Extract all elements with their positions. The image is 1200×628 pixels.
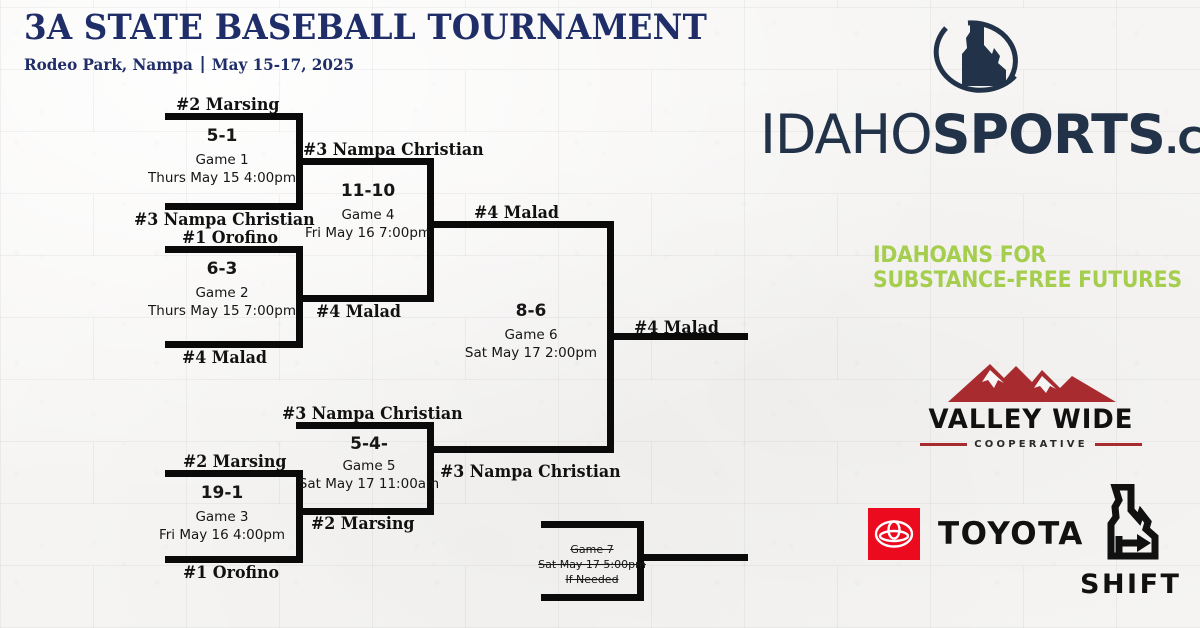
game-7-datetime: Sat May 17 5:00pm [538,558,646,573]
game-1-bottom-team: #3 Nampa Christian [134,210,315,229]
game-1-bottom-line [165,203,303,210]
game-3-label: Game 3 [159,508,285,526]
game-7-output-line [637,554,748,561]
game-4-datetime: Fri May 16 7:00pm [305,224,431,242]
game-2-bottom-line [165,341,303,348]
valley-wide-cooperative-logo[interactable]: VALLEY WIDE COOPERATIVE [920,358,1142,450]
game-1-top-line [165,113,303,120]
shift-logo[interactable]: SHIFT [1080,484,1180,600]
idahoans-wordmark: IDAHOANS FOR SUBSTANCE-FREE FUTURES [873,244,1182,294]
game-2-info: 6-3 Game 2 Thurs May 15 7:00pm [148,259,296,320]
idahoans-line-2: SUBSTANCE-FREE FUTURES [873,269,1182,294]
game-3-datetime: Fri May 16 4:00pm [159,526,285,544]
game-7-if-needed-label: If Needed [538,573,646,588]
game-6-bottom-line [427,446,614,453]
game-2-datetime: Thurs May 15 7:00pm [148,302,296,320]
game-5-info: 5-4- Game 5 Sat May 17 11:00am [299,434,439,493]
toyota-wordmark: TOYOTA [938,516,1084,552]
game-3-top-line [165,470,303,477]
valley-wide-rule-right [1095,443,1142,446]
game-4-label: Game 4 [305,206,431,224]
valley-wide-rule-left [920,443,967,446]
game-3-info: 19-1 Game 3 Fri May 16 4:00pm [159,483,285,544]
game-2-score: 6-3 [148,259,296,279]
idahosports-logo[interactable]: IDAHOSPORTS.COM [760,14,1192,162]
game-4-info: 11-10 Game 4 Fri May 16 7:00pm [305,181,431,242]
game-7-label: Game 7 [538,543,646,558]
game-4-top-team: #3 Nampa Christian [303,140,484,159]
idahosports-word-bold: SPORTS [932,103,1165,166]
game-7-top-line [541,521,644,528]
game-3-score: 19-1 [159,483,285,503]
idaho-arrow-icon [1089,484,1171,562]
idahoans-line-1: IDAHOANS FOR [873,244,1182,269]
game-5-bottom-team: #2 Marsing [311,514,414,533]
game-5-datetime: Sat May 17 11:00am [299,475,439,493]
game-6-bottom-team: #3 Nampa Christian [440,462,621,481]
game-6-top-team: #4 Malad [474,203,559,222]
game-3-bottom-line [165,556,303,563]
game-3-bottom-team: #1 Orofino [183,563,279,582]
game-2-label: Game 2 [148,284,296,302]
valley-wide-name: VALLEY WIDE [924,404,1137,435]
game-6-top-line [427,221,614,228]
game-4-bottom-team: #4 Malad [316,302,401,321]
game-2-top-line [165,246,303,253]
idahosports-wordmark: IDAHOSPORTS.COM [760,108,1192,162]
game-1-datetime: Thurs May 15 4:00pm [148,169,296,187]
toyota-ellipses-icon [874,519,914,549]
game-3-top-team: #2 Marsing [183,452,286,471]
game-5-score: 5-4- [299,434,439,454]
toyota-badge [868,508,920,560]
game-4-score: 11-10 [305,181,431,201]
game-6-score: 8-6 [465,301,597,321]
game-1-label: Game 1 [148,151,296,169]
toyota-logo[interactable]: TOYOTA [868,508,1084,560]
valley-wide-subtitle-row: COOPERATIVE [920,439,1142,450]
game-5-top-line [296,422,434,429]
idahosports-word-domain: .COM [1165,121,1200,162]
idahosports-word-light: IDAHO [760,103,932,166]
game-2-bottom-team: #4 Malad [182,348,267,367]
game-7-info: Game 7 Sat May 17 5:00pm If Needed [538,543,646,588]
champion-line [607,333,748,340]
valley-wide-subtitle: COOPERATIVE [974,439,1087,450]
game-1-score: 5-1 [148,126,296,146]
game-5-label: Game 5 [299,457,439,475]
game-6-label: Game 6 [465,326,597,344]
game-5-top-team: #3 Nampa Christian [282,404,463,423]
game-1-info: 5-1 Game 1 Thurs May 15 4:00pm [148,126,296,187]
game-6-datetime: Sat May 17 2:00pm [465,344,597,362]
game-4-bottom-line [296,295,434,302]
shift-wordmark: SHIFT [1080,569,1180,600]
idahoans-substance-free-futures-logo[interactable]: IDAHOANS FOR SUBSTANCE-FREE FUTURES [862,233,1200,305]
game-6-info: 8-6 Game 6 Sat May 17 2:00pm [465,301,597,362]
idahosports-mark-icon [922,14,1030,102]
mountain-range-icon [920,358,1142,402]
game-1-top-team: #2 Marsing [176,95,279,114]
game-2-top-team: #1 Orofino [182,228,278,247]
game-7-bottom-line [541,594,644,601]
game-4-top-line [296,158,434,165]
